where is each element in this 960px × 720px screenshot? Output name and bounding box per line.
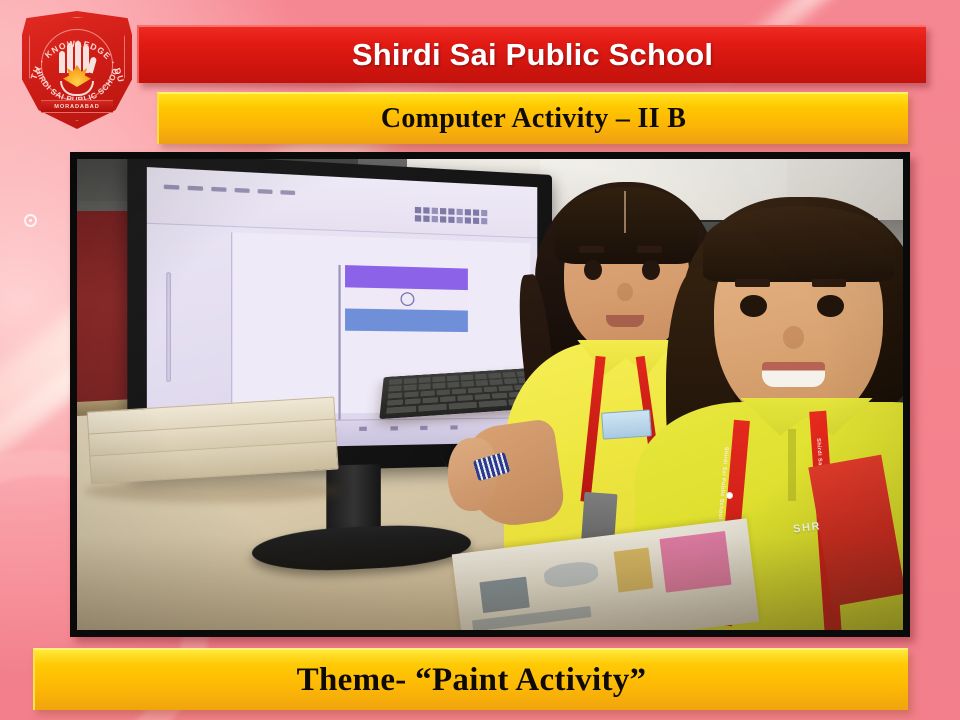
presentation-slide: FAITH · KNOWLEDGE · DUTY SHIRDI SAI PUBL… (0, 0, 960, 720)
paint-scrollbar (165, 272, 170, 382)
student-back-eye-left (584, 260, 602, 280)
activity-photo-frame: Shirdi Sai Public School Shirdi Sai Publ… (70, 152, 910, 637)
paper-stack (87, 396, 340, 496)
school-logo: FAITH · KNOWLEDGE · DUTY SHIRDI SAI PUBL… (22, 11, 132, 129)
activity-subtitle-label: Computer Activity – II B (381, 103, 686, 135)
student-back-name-badge (601, 409, 652, 440)
student-back-mouth (606, 315, 644, 327)
activity-subtitle-banner: Computer Activity – II B (157, 92, 908, 144)
crest-city-label: MORADABAD (54, 104, 99, 110)
flag-pole (338, 265, 340, 435)
photo-bottom-shadow (77, 536, 903, 630)
student-front-eye-right (817, 295, 843, 317)
student-back-eye-right (642, 260, 660, 280)
theme-label: Theme- “Paint Activity” (297, 662, 647, 699)
student-back-hair-part (624, 191, 626, 232)
student-front-nose (783, 326, 804, 348)
activity-photo: Shirdi Sai Public School Shirdi Sai Publ… (77, 159, 903, 630)
student-front-smile (762, 362, 825, 387)
flag-band-bottom (345, 309, 468, 332)
student-back-nose (617, 283, 633, 301)
lanyard-logo-icon (726, 492, 733, 499)
school-title-banner: Shirdi Sai Public School (137, 25, 926, 83)
indian-flag-drawing (345, 265, 468, 332)
student-front-hair-top (703, 206, 893, 282)
background-dot-decoration (24, 214, 37, 227)
theme-banner: Theme- “Paint Activity” (33, 648, 908, 710)
crest-city-ribbon: MORADABAD (41, 100, 113, 113)
school-title-label: Shirdi Sai Public School (352, 37, 713, 73)
student-front-placket (788, 429, 796, 501)
